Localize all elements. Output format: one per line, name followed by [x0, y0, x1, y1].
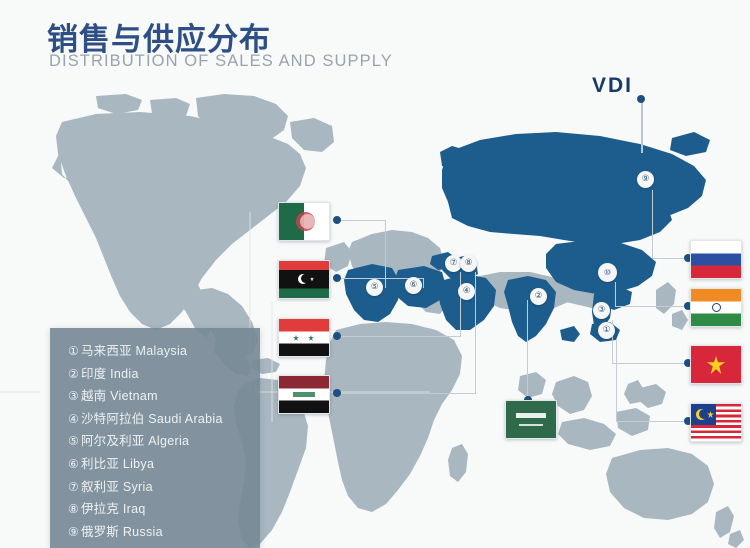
- legend-item-number: ①: [68, 344, 79, 358]
- legend-item-number: ⑥: [68, 457, 79, 471]
- connector-dot-algeria: [333, 216, 341, 224]
- connector-libya-v: [423, 278, 424, 288]
- legend-item-vietnam[interactable]: ③越南 Vietnam: [68, 385, 252, 408]
- flag-algeria[interactable]: [278, 202, 330, 241]
- connector-dot-iraq: [333, 389, 341, 397]
- legend-item-label-cn: 沙特阿拉伯: [81, 411, 145, 426]
- legend-item-algeria[interactable]: ⑤阿尔及利亚 Algeria: [68, 430, 252, 453]
- connector-vietnam-h: [612, 363, 688, 364]
- connector-dot-libya: [333, 274, 341, 282]
- map-marker-russia[interactable]: ⑨: [637, 171, 654, 188]
- legend-item-number: ⑤: [68, 434, 79, 448]
- legend-item-number: ③: [68, 389, 79, 403]
- vdi-logo: VDI: [592, 74, 633, 98]
- connector-india-v: [615, 282, 616, 307]
- flag-saudi-field: [506, 401, 556, 438]
- vdi-stem-line: [641, 98, 643, 153]
- legend-item-label-cn: 伊拉克: [81, 501, 119, 516]
- legend-item-label-en: Vietnam: [106, 389, 158, 403]
- page-title-en: DISTRIBUTION OF SALES AND SUPPLY: [49, 52, 393, 71]
- legend-item-syria[interactable]: ⑦叙利亚 Syria: [68, 476, 252, 499]
- connector-india-h: [615, 306, 688, 307]
- legend-item-number: ②: [68, 367, 79, 381]
- map-marker-china[interactable]: ⑩: [598, 263, 617, 282]
- flag-russia[interactable]: [690, 240, 742, 279]
- legend-item-libya[interactable]: ⑥利比亚 Libya: [68, 453, 252, 476]
- legend-item-label-en: Russia: [119, 525, 163, 539]
- legend-item-iraq[interactable]: ⑧伊拉克 Iraq: [68, 498, 252, 521]
- legend-list: ①马来西亚 Malaysia②印度 India③越南 Vietnam④沙特阿拉伯…: [68, 340, 252, 543]
- vdi-anchor-dot: [637, 95, 645, 103]
- legend-item-russia[interactable]: ⑨俄罗斯 Russia: [68, 521, 252, 544]
- legend-item-india[interactable]: ②印度 India: [68, 363, 252, 386]
- connector-algeria-h: [336, 220, 386, 221]
- map-marker-saudi-arabia[interactable]: ④: [458, 283, 475, 300]
- connector-iraq-h: [336, 393, 476, 394]
- legend-item-label-cn: 印度: [81, 366, 106, 381]
- flag-malaysia-crescent-cut: [699, 409, 709, 419]
- legend-item-label-cn: 俄罗斯: [81, 524, 119, 539]
- legend-item-label-en: Algeria: [144, 434, 189, 448]
- flag-saudi-shahada: [516, 413, 546, 418]
- flag-syria-field: [279, 319, 329, 356]
- legend-item-malaysia[interactable]: ①马来西亚 Malaysia: [68, 340, 252, 363]
- flag-malaysia[interactable]: [690, 403, 742, 442]
- connector-malaysia-v: [616, 340, 617, 422]
- legend-item-number: ⑦: [68, 480, 79, 494]
- legend-item-number: ④: [68, 412, 79, 426]
- legend-item-number: ⑧: [68, 502, 79, 516]
- legend-item-label-en: Malaysia: [132, 344, 188, 358]
- map-marker-iraq[interactable]: ⑧: [460, 255, 477, 272]
- legend-panel: ①马来西亚 Malaysia②印度 India③越南 Vietnam④沙特阿拉伯…: [50, 328, 260, 548]
- flag-iraq[interactable]: [278, 375, 330, 414]
- connector-malaysia-h: [616, 421, 688, 422]
- connector-syria-h: [336, 336, 461, 337]
- connector-saudi-v: [527, 300, 528, 400]
- legend-item-number: ⑨: [68, 525, 79, 539]
- legend-item-label-cn: 利比亚: [81, 456, 119, 471]
- legend-item-label-en: Iraq: [119, 502, 146, 516]
- connector-russia-h: [652, 258, 688, 259]
- connector-syria-v: [460, 272, 461, 337]
- flag-syria[interactable]: [278, 318, 330, 357]
- slide-canvas: 销售与供应分布 DISTRIBUTION OF SALES AND SUPPLY: [0, 0, 750, 548]
- map-marker-libya[interactable]: ⑥: [405, 277, 422, 294]
- connector-russia-v: [652, 190, 653, 259]
- flag-saudi-sword: [519, 424, 543, 426]
- legend-item-label-cn: 越南: [81, 388, 106, 403]
- map-marker-algeria[interactable]: ⑤: [366, 279, 383, 296]
- flag-algeria-crescent-cut: [300, 214, 315, 229]
- legend-item-label-cn: 阿尔及利亚: [81, 433, 145, 448]
- flag-libya[interactable]: [278, 260, 330, 299]
- legend-item-saudi-arabia[interactable]: ④沙特阿拉伯 Saudi Arabia: [68, 408, 252, 431]
- flag-russia-field: [691, 241, 741, 278]
- flag-iraq-script: [293, 392, 315, 397]
- flag-libya-crescent-cut: [301, 274, 310, 283]
- legend-item-label-en: Saudi Arabia: [144, 412, 222, 426]
- flag-vietnam[interactable]: [690, 345, 742, 384]
- map-marker-vietnam[interactable]: ③: [593, 302, 610, 319]
- legend-item-label-cn: 叙利亚: [81, 479, 119, 494]
- connector-iraq-v: [475, 272, 476, 394]
- connector-dot-syria: [333, 332, 341, 340]
- flag-saudi-arabia[interactable]: [505, 400, 557, 439]
- flag-india-chakra: [712, 303, 721, 312]
- legend-item-label-cn: 马来西亚: [81, 343, 132, 358]
- legend-item-label-en: Libya: [119, 457, 154, 471]
- map-marker-malaysia[interactable]: ①: [598, 322, 615, 339]
- flag-india[interactable]: [690, 288, 742, 327]
- legend-item-label-en: Syria: [119, 480, 153, 494]
- legend-item-label-en: India: [106, 367, 138, 381]
- map-marker-india[interactable]: ②: [530, 288, 547, 305]
